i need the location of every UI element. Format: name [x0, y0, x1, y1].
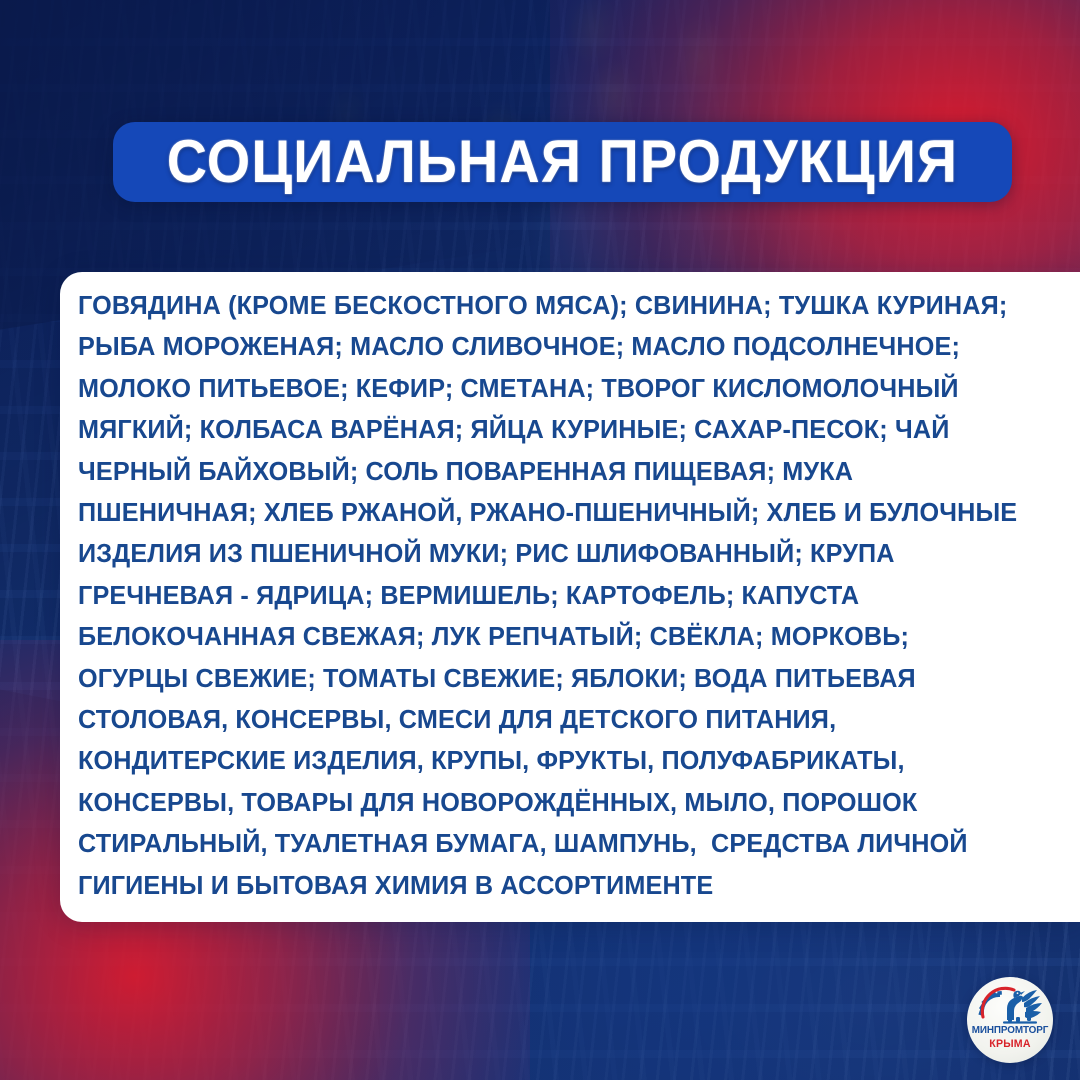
product-list-card: ГОВЯДИНА (КРОМЕ БЕСКОСТНОГО МЯСА); СВИНИ… [60, 272, 1080, 922]
logo-ministry-name: МИНПРОМТОРГ [968, 1025, 1051, 1036]
poster-canvas: СОЦИАЛЬНАЯ ПРОДУКЦИЯ ГОВЯДИНА (КРОМЕ БЕС… [0, 0, 1080, 1080]
griffin-gear-emblem-icon [967, 984, 1053, 1024]
product-list-text: ГОВЯДИНА (КРОМЕ БЕСКОСТНОГО МЯСА); СВИНИ… [78, 286, 1024, 907]
logo-region-name: КРЫМА [967, 1038, 1053, 1050]
ministry-logo-badge: МИНПРОМТОРГ КРЫМА [967, 977, 1053, 1063]
page-title: СОЦИАЛЬНАЯ ПРОДУКЦИЯ [167, 132, 958, 192]
title-banner: СОЦИАЛЬНАЯ ПРОДУКЦИЯ [113, 122, 1012, 202]
